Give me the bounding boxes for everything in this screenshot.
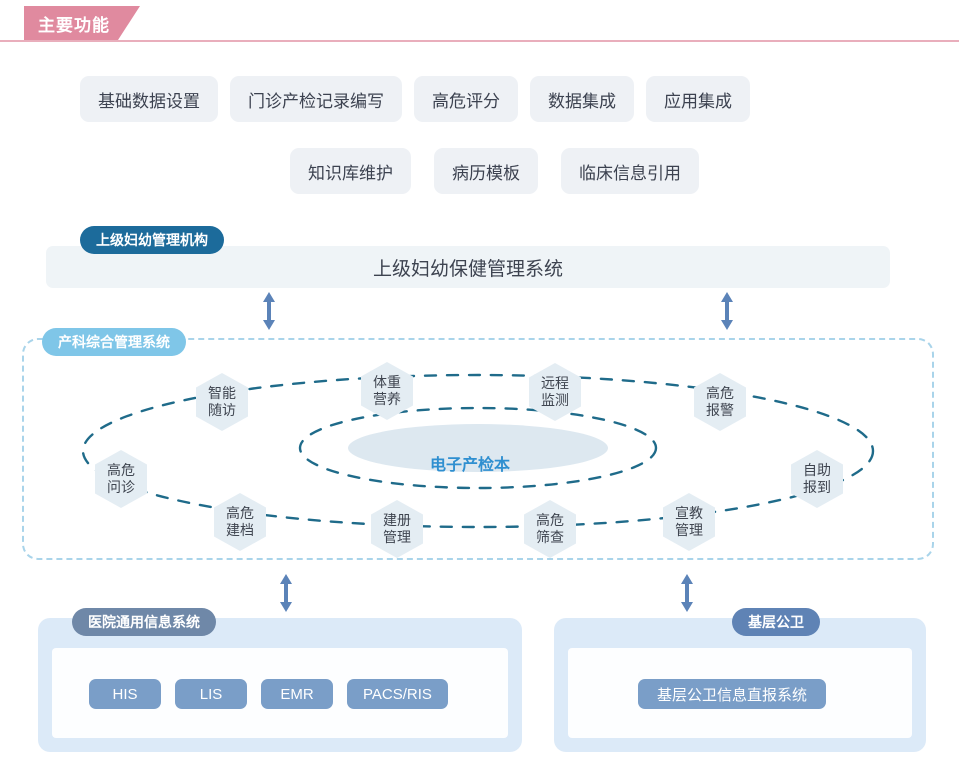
grassroots-chip-row: 基层公卫信息直报系统: [638, 679, 826, 709]
badge-label: 基层公卫: [748, 612, 804, 632]
center-ellipse-label: 电子产检本: [339, 445, 601, 481]
double-vertical-arrow-icon: [261, 291, 277, 331]
grassroots-panel: 基层公卫信息直报系统: [554, 618, 926, 752]
section-banner: 主要功能: [24, 6, 140, 40]
node-label-line1: 宣教: [675, 505, 703, 522]
node-label-line1: 高危: [536, 512, 564, 529]
chip-grassroots-direct-report[interactable]: 基层公卫信息直报系统: [638, 679, 826, 709]
hospital-systems-inner: HIS LIS EMR PACS/RIS: [52, 648, 508, 738]
node-label-line1: 高危: [107, 462, 135, 479]
grassroots-panel-inner: 基层公卫信息直报系统: [568, 648, 912, 738]
node-label-line2: 筛查: [536, 529, 564, 546]
upper-level-system-title: 上级妇幼保健管理系统: [373, 254, 563, 281]
node-label-line1: 体重: [373, 374, 401, 391]
function-pill[interactable]: 数据集成: [530, 76, 634, 122]
node-label-line2: 问诊: [107, 479, 135, 496]
function-pill[interactable]: 临床信息引用: [561, 148, 699, 194]
badge-upper-level-agency: 上级妇幼管理机构: [80, 226, 224, 254]
function-pill[interactable]: 基础数据设置: [80, 76, 218, 122]
badge-label: 医院通用信息系统: [88, 612, 200, 632]
badge-grassroots-health: 基层公卫: [732, 608, 820, 636]
double-vertical-arrow-icon: [278, 573, 294, 613]
function-pill[interactable]: 门诊产检记录编写: [230, 76, 402, 122]
node-label-line2: 建档: [226, 522, 254, 539]
badge-obstetric-system: 产科综合管理系统: [42, 328, 186, 356]
center-label-text: 电子产检本: [430, 451, 510, 475]
function-pill[interactable]: 知识库维护: [290, 148, 411, 194]
node-label-line1: 高危: [706, 385, 734, 402]
hospital-chip-row: HIS LIS EMR PACS/RIS: [89, 679, 448, 709]
node-label-line2: 报到: [803, 479, 831, 496]
page-title: 主要功能: [38, 11, 110, 36]
node-label-line1: 远程: [541, 375, 569, 392]
function-pill[interactable]: 应用集成: [646, 76, 750, 122]
node-label-line1: 自助: [803, 462, 831, 479]
node-label-line2: 管理: [383, 529, 411, 546]
header-divider: [0, 40, 959, 42]
node-label-line1: 高危: [226, 505, 254, 522]
page-header: 主要功能: [0, 0, 959, 44]
chip-his[interactable]: HIS: [89, 679, 161, 709]
hospital-systems-panel: HIS LIS EMR PACS/RIS: [38, 618, 522, 752]
function-pill-row-1: 基础数据设置 门诊产检记录编写 高危评分 数据集成 应用集成: [80, 76, 750, 122]
node-label-line2: 监测: [541, 392, 569, 409]
chip-lis[interactable]: LIS: [175, 679, 247, 709]
function-pill-row-2: 知识库维护 病历模板 临床信息引用: [290, 148, 699, 194]
node-label-line2: 管理: [675, 522, 703, 539]
double-vertical-arrow-icon: [719, 291, 735, 331]
function-pill[interactable]: 高危评分: [414, 76, 518, 122]
badge-label: 产科综合管理系统: [58, 332, 170, 352]
node-label-line2: 随访: [208, 402, 236, 419]
chip-pacs-ris[interactable]: PACS/RIS: [347, 679, 448, 709]
function-pill[interactable]: 病历模板: [434, 148, 538, 194]
node-label-line1: 智能: [208, 385, 236, 402]
node-label-line1: 建册: [383, 512, 411, 529]
badge-hospital-systems: 医院通用信息系统: [72, 608, 216, 636]
node-label-line2: 营养: [373, 391, 401, 408]
double-vertical-arrow-icon: [679, 573, 695, 613]
badge-label: 上级妇幼管理机构: [96, 230, 208, 250]
node-label-line2: 报警: [706, 402, 734, 419]
chip-emr[interactable]: EMR: [261, 679, 333, 709]
